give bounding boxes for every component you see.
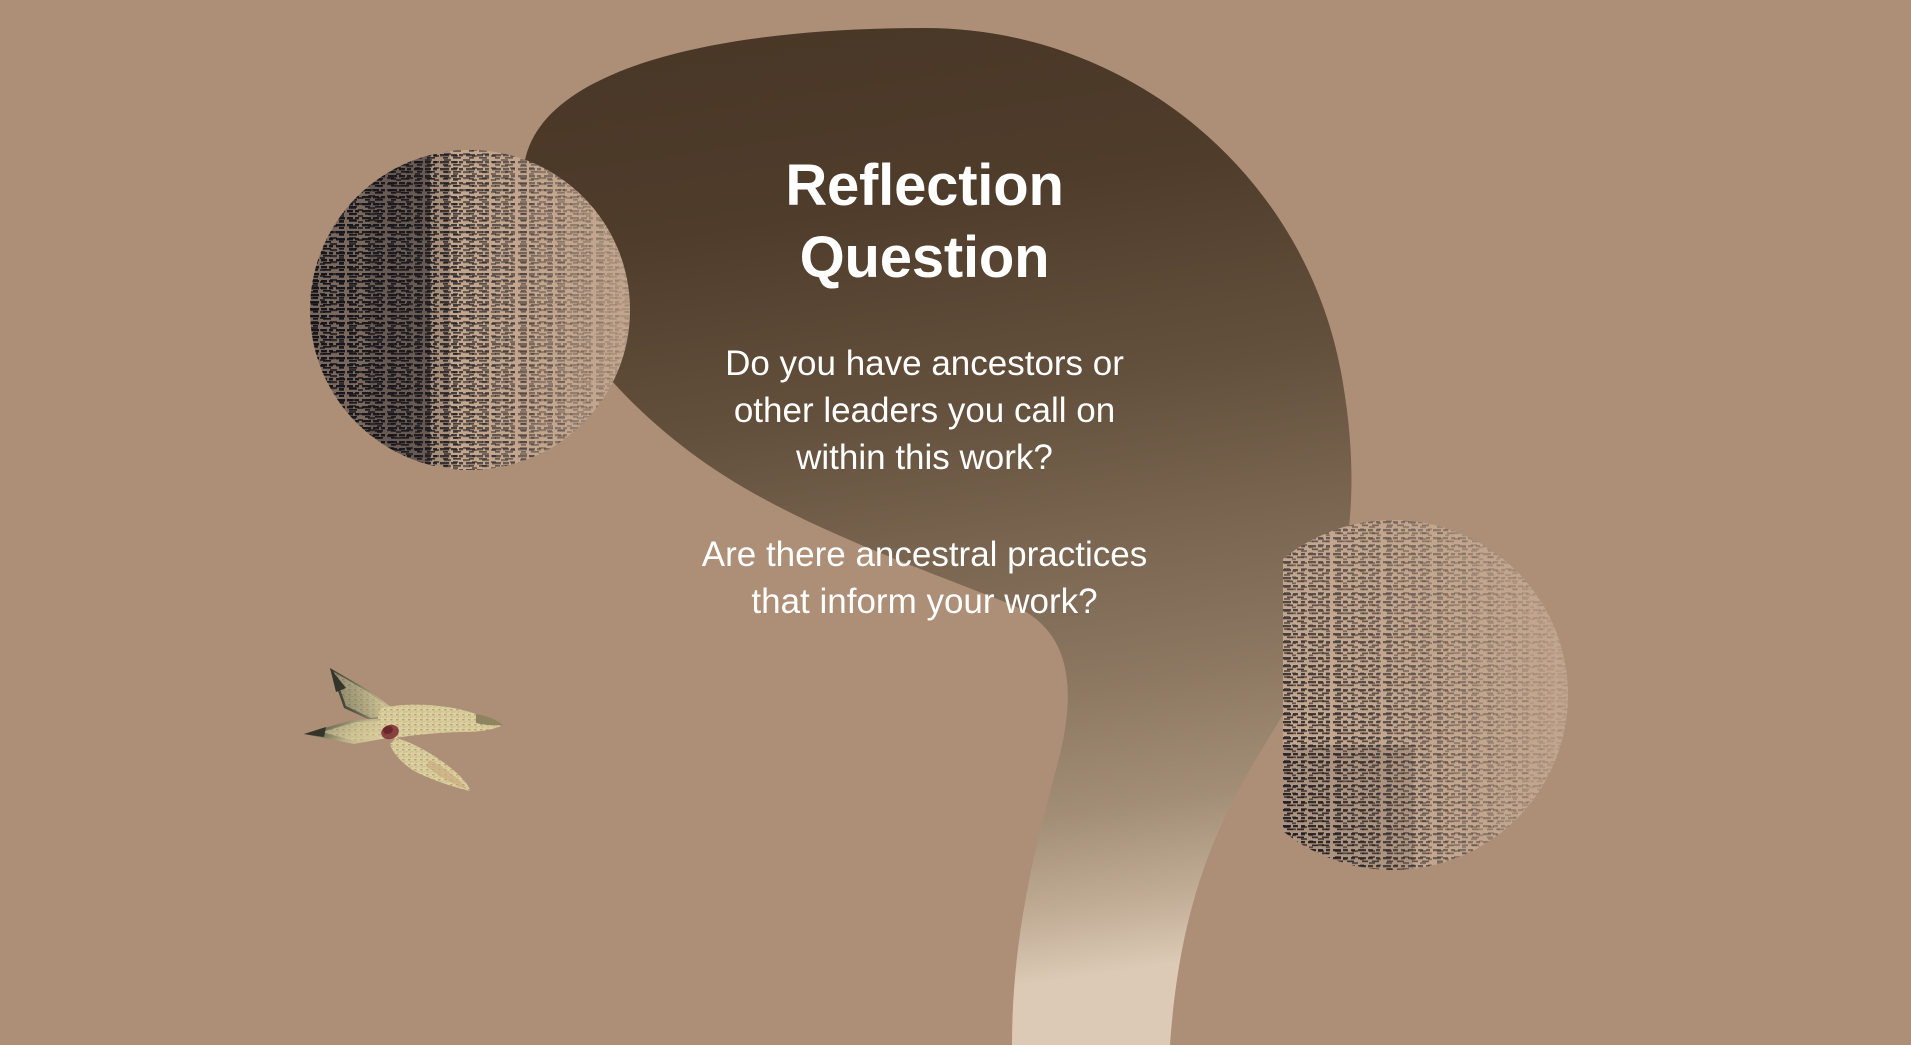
paragraph-2-line-1: Are there ancestral practices	[612, 531, 1237, 578]
flying-bird-illustration	[300, 648, 505, 793]
paragraph-2-line-2: that inform your work?	[612, 578, 1237, 625]
slide-text-content: Reflection Question Do you have ancestor…	[612, 150, 1237, 625]
reflection-question-1: Do you have ancestors or other leaders y…	[612, 340, 1237, 481]
page-title: Reflection Question	[612, 150, 1237, 294]
slide-canvas: Reflection Question Do you have ancestor…	[0, 0, 1911, 1045]
paragraph-1-line-2: other leaders you call on	[612, 387, 1237, 434]
reflection-question-2: Are there ancestral practices that infor…	[612, 531, 1237, 625]
title-line-2: Question	[612, 222, 1237, 294]
paragraph-1-line-3: within this work?	[612, 434, 1237, 481]
textured-circle-right	[1283, 495, 1583, 895]
textured-circle-left	[310, 110, 630, 510]
paragraph-1-line-1: Do you have ancestors or	[612, 340, 1237, 387]
title-line-1: Reflection	[612, 150, 1237, 222]
